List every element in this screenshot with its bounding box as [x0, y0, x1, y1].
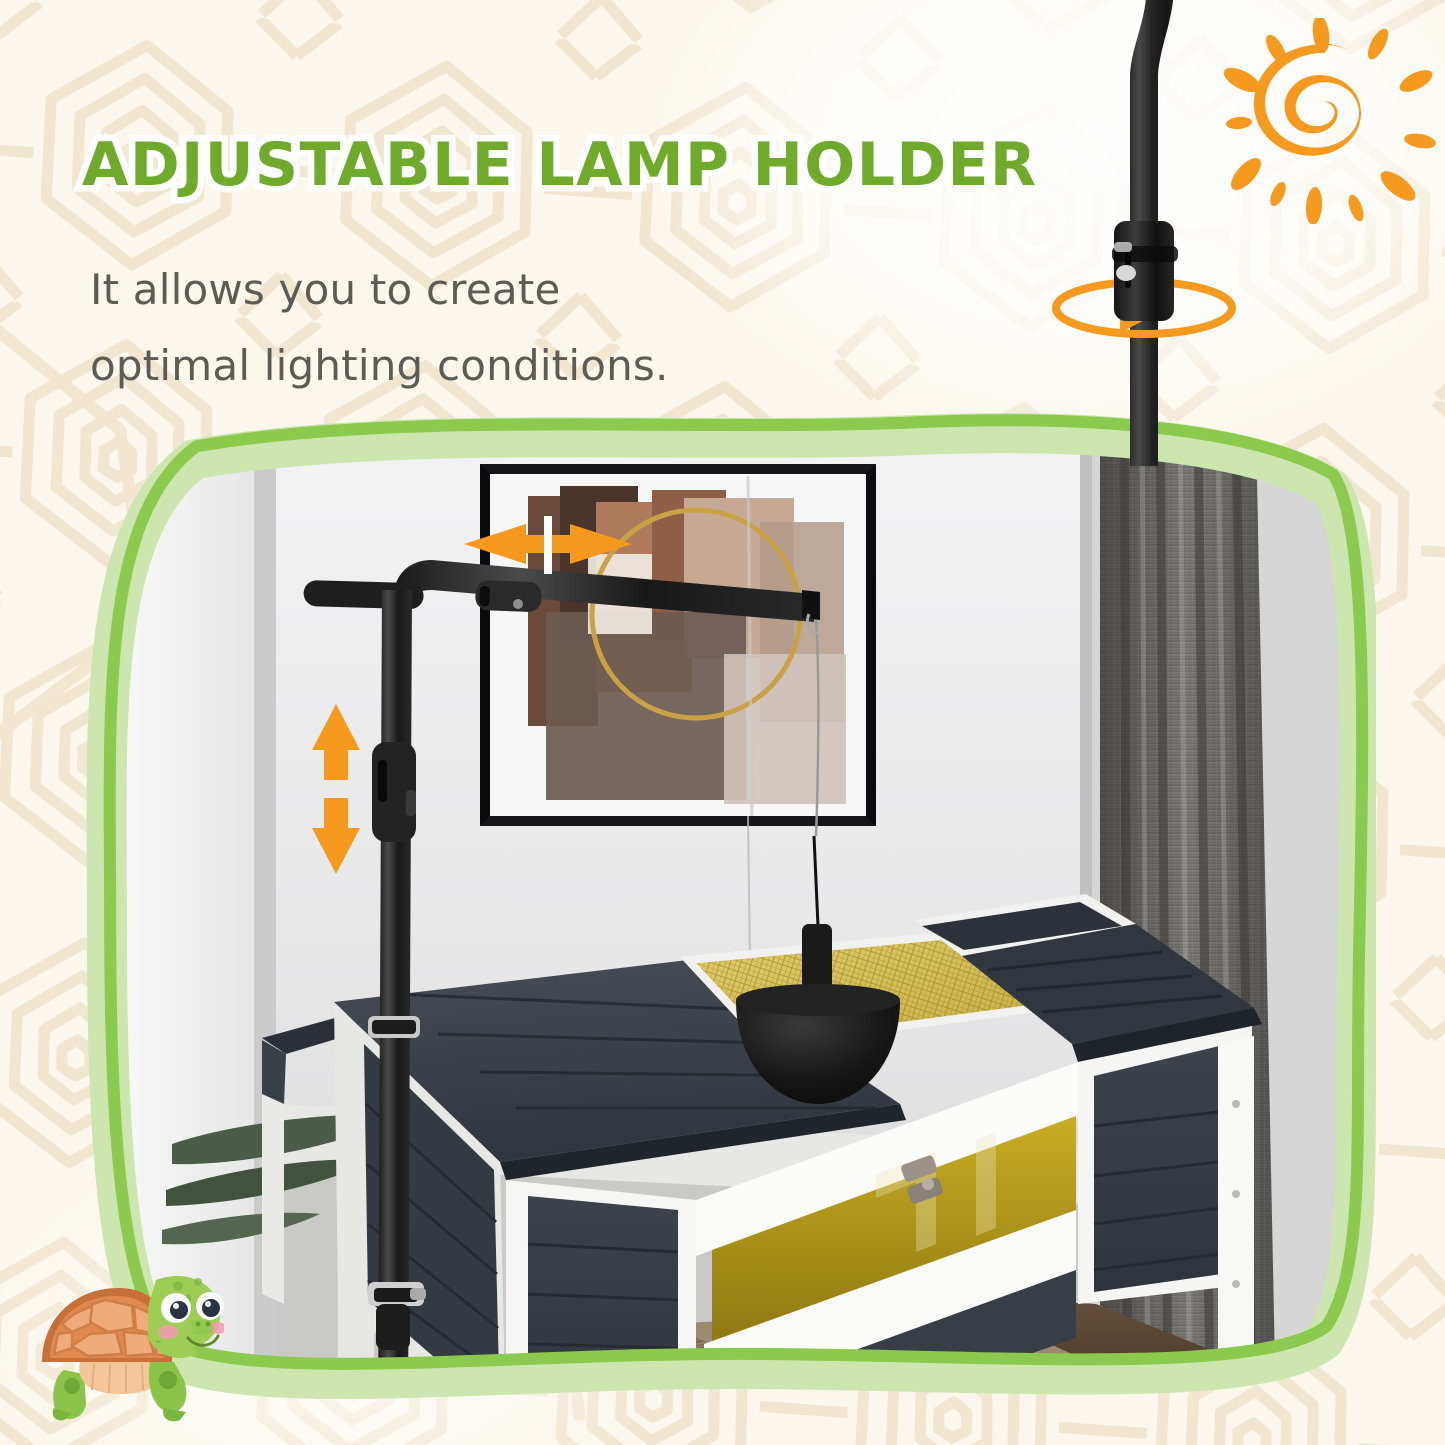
sun-spiral-icon — [1208, 18, 1436, 224]
subtitle-line-2: optimal lighting conditions. — [90, 328, 669, 404]
page-title: ADJUSTABLE LAMP HOLDER — [82, 134, 1038, 196]
page-subtitle: It allows you to create optimal lighting… — [90, 252, 669, 404]
page-title-text: ADJUSTABLE LAMP HOLDER — [82, 130, 1038, 200]
product-photo-frame: PawHut — [76, 404, 1376, 1416]
turtle-mascot-icon — [28, 1258, 224, 1444]
subtitle-line-1: It allows you to create — [90, 252, 669, 328]
photo-frame-outer-rim — [76, 404, 1376, 1416]
